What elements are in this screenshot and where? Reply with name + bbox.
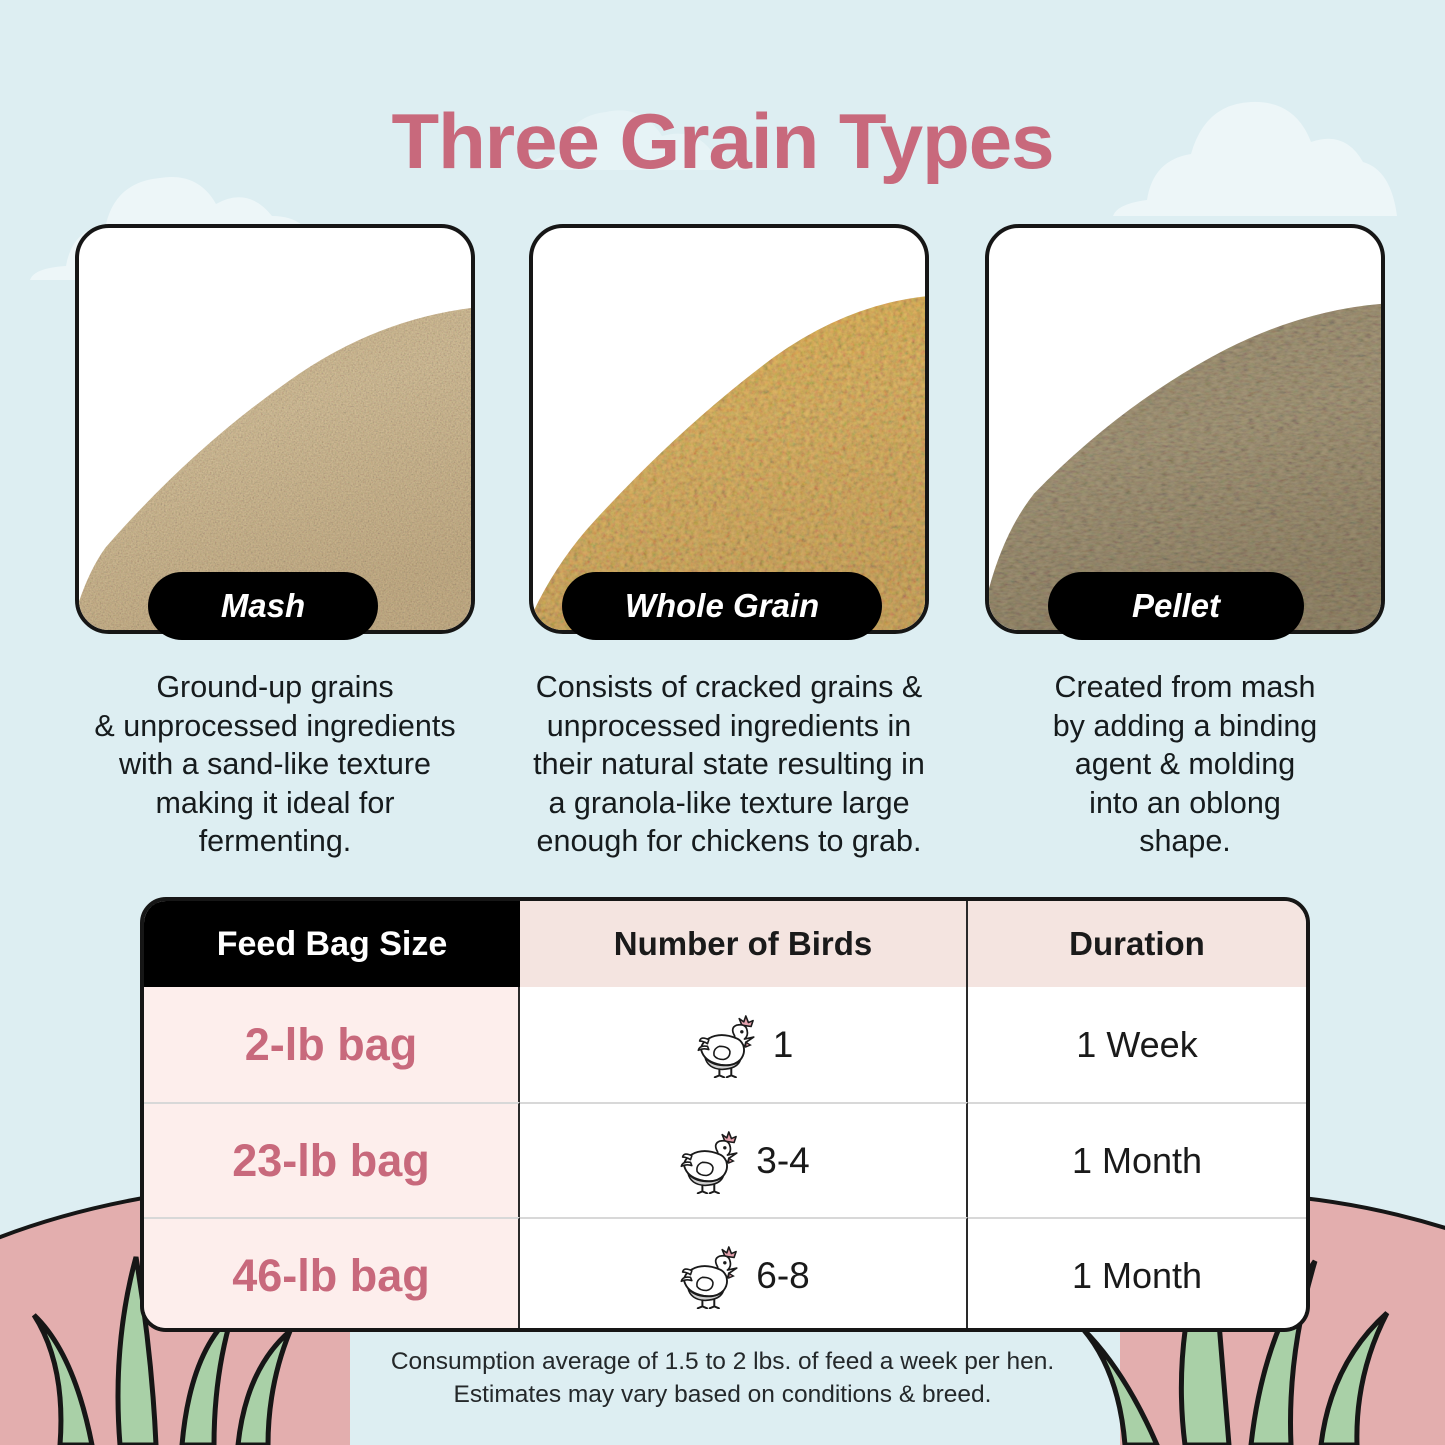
hen-icon	[676, 1128, 742, 1194]
cell-duration: 1 Month	[968, 1217, 1306, 1332]
feed-bag-table: Feed Bag Size Number of Birds Duration 2…	[140, 897, 1310, 1332]
cell-number-of-birds: 3-4	[520, 1102, 968, 1217]
cell-number-of-birds: 6-8	[520, 1217, 968, 1332]
hen-icon	[676, 1243, 742, 1309]
hen-icon	[693, 1012, 759, 1078]
header-duration: Duration	[968, 901, 1306, 987]
bird-count-label: 1	[773, 1024, 794, 1066]
table-header-row: Feed Bag Size Number of Birds Duration	[144, 901, 1306, 987]
badge-whole-grain: Whole Grain	[562, 572, 882, 640]
page-title: Three Grain Types	[0, 96, 1445, 187]
badge-mash: Mash	[148, 572, 378, 640]
cell-duration: 1 Month	[968, 1102, 1306, 1217]
footer-note: Consumption average of 1.5 to 2 lbs. of …	[0, 1345, 1445, 1411]
infographic-canvas: Three Grain Types	[0, 0, 1445, 1445]
bird-count-label: 6-8	[756, 1255, 809, 1297]
header-number-of-birds: Number of Birds	[520, 901, 968, 987]
description-mash: Ground-up grains & unprocessed ingredien…	[75, 668, 475, 861]
bird-count-label: 3-4	[756, 1140, 809, 1182]
table-row: 2-lb bag	[144, 987, 1306, 1102]
cell-number-of-birds: 1	[520, 987, 968, 1102]
table-row: 23-lb bag	[144, 1102, 1306, 1217]
badge-pellet: Pellet	[1048, 572, 1304, 640]
cell-bag-size: 23-lb bag	[144, 1102, 520, 1217]
description-pellet: Created from mash by adding a binding ag…	[985, 668, 1385, 861]
cell-bag-size: 2-lb bag	[144, 987, 520, 1102]
cell-bag-size: 46-lb bag	[144, 1217, 520, 1332]
description-whole-grain: Consists of cracked grains & unprocessed…	[500, 668, 958, 861]
header-feed-bag-size: Feed Bag Size	[144, 901, 520, 987]
cell-duration: 1 Week	[968, 987, 1306, 1102]
table-row: 46-lb bag	[144, 1217, 1306, 1332]
